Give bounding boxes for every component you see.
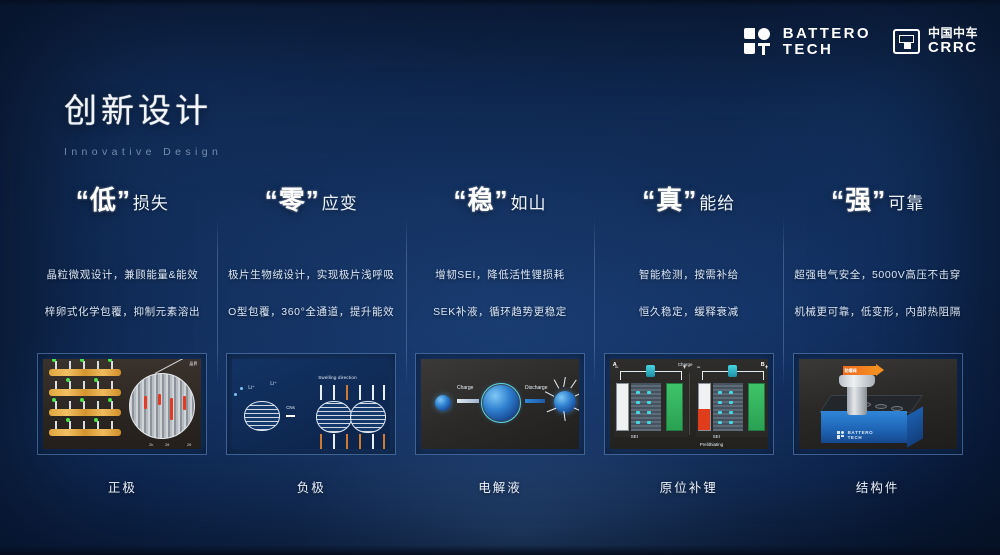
bullet-line: O型包覆，360°全通道，提升能效 [228, 304, 394, 319]
column-heading: “强” 可靠 [831, 180, 924, 232]
graphite-particle [244, 401, 280, 431]
column-heading: “真” 能给 [642, 180, 735, 232]
column-heading: “低” 损失 [76, 180, 169, 232]
battero-mark-icon-small [837, 431, 845, 439]
figure-caption: 电解液 [478, 477, 522, 496]
axis-tick: 2θ [165, 442, 169, 447]
figure-panel-graphite-swelling: Li⁺ Li⁺ CNs Swelling direction [226, 353, 396, 455]
magnified-region [129, 373, 195, 439]
bullet-line: 极片生物绒设计，实现极片浅呼吸 [228, 267, 395, 282]
bullet-line: 梓卵式化学包覆，抑制元素溶出 [45, 304, 200, 319]
species-label: CNs [286, 405, 295, 410]
column-bullets: 晶粒微观设计，兼顾能量&能效 梓卵式化学包覆，抑制元素溶出 [45, 267, 200, 319]
figure-panel-module-structure: 防爆阀 BATTERO TECH [793, 353, 963, 455]
heading-keyword: “稳” [453, 180, 508, 217]
column-bullets: 超强电气安全，5000V高压不击穿 机械更可靠，低变形，内部热阻隔 [794, 267, 961, 319]
heading-keyword: “零” [265, 180, 320, 217]
sei-label: SEI [631, 434, 638, 439]
page-title: 创新设计 Innovative Design [64, 84, 222, 158]
vent-valve-cap [839, 375, 875, 387]
figure-caption: 正极 [108, 477, 137, 496]
column-bullets: 增韧SEI，降低活性锂损耗 SEK补液，循环趋势更稳定 [433, 267, 567, 319]
negative-terminal: − [697, 365, 701, 371]
title-english: Innovative Design [64, 146, 222, 158]
particle-spiked [554, 391, 576, 413]
module-brand-line2: TECH [848, 435, 874, 440]
heading-suffix: 应变 [322, 189, 358, 214]
feature-column-cathode: “低” 损失 晶粒微观设计，兼顾能量&能效 梓卵式化学包覆，抑制元素溶出 [28, 180, 217, 496]
battero-line2: TECH [783, 42, 871, 58]
vent-arrow-label: 防爆阀 [845, 368, 857, 374]
bullet-line: 机械更可靠，低变形，内部热阻隔 [794, 304, 961, 319]
figure-panel-crystal-lattice: 晶界 2h 2θ 2θ [37, 353, 207, 455]
title-chinese: 创新设计 [64, 84, 222, 132]
crrc-english-name: CRRC [928, 40, 978, 56]
sei-label: SEI [713, 434, 720, 439]
charge-label: Charge [457, 385, 473, 391]
crrc-mark-icon [893, 29, 920, 54]
battero-line1: BATTERO [783, 26, 871, 42]
heading-suffix: 如山 [511, 189, 547, 214]
legend-bar [286, 415, 295, 417]
ion-label: Li⁺ [248, 385, 255, 391]
column-heading: “零” 应变 [265, 180, 358, 232]
bullet-line: 增韧SEI，降低活性锂损耗 [435, 267, 565, 282]
column-bullets: 智能检测，按需补给 恒久稳定，缓释衰减 [639, 267, 739, 319]
figure-caption: 结构件 [856, 477, 900, 496]
figure-caption: 原位补锂 [660, 477, 718, 496]
battero-mark-icon [744, 27, 774, 57]
negative-terminal: − [615, 365, 619, 371]
prelithiating-label: Prelithiating [700, 442, 724, 447]
axis-tick: 2h [149, 442, 153, 447]
particle-small [435, 395, 451, 411]
swelling-direction-label: Swelling direction [318, 375, 357, 380]
graphite-particle [316, 401, 352, 433]
particle-halo [481, 383, 521, 423]
logo-bar: BATTERO TECH 中国中车 CRRC [744, 26, 978, 58]
bullet-line: 恒久稳定，缓释衰减 [639, 304, 739, 319]
feature-column-anode: “零” 应变 极片生物绒设计，实现极片浅呼吸 O型包覆，360°全通道，提升能效… [217, 180, 406, 496]
feature-column-electrolyte: “稳” 如山 增韧SEI，降低活性锂损耗 SEK补液，循环趋势更稳定 Charg… [406, 180, 595, 496]
figure-caption: 负极 [297, 477, 326, 496]
bullet-line: SEK补液，循环趋势更稳定 [433, 304, 567, 319]
graphite-particle [350, 401, 386, 433]
heading-keyword: “强” [831, 180, 886, 217]
ion-label-2: Li⁺ [270, 381, 277, 387]
battero-wordmark: BATTERO TECH [783, 26, 871, 58]
heading-keyword: “真” [642, 180, 697, 217]
heading-suffix: 可靠 [888, 189, 924, 214]
battero-logo: BATTERO TECH [744, 26, 871, 58]
module-brand-logo: BATTERO TECH [837, 430, 874, 440]
heading-suffix: 能给 [699, 189, 735, 214]
callout-pointer [155, 359, 185, 374]
feature-column-prelithiation: “真” 能给 智能检测，按需补给 恒久稳定，缓释衰减 A B Charge [594, 180, 783, 496]
heading-keyword: “低” [76, 180, 131, 217]
feature-column-structure: “强” 可靠 超强电气安全，5000V高压不击穿 机械更可靠，低变形，内部热阻隔 [783, 180, 972, 496]
crrc-wordmark: 中国中车 CRRC [928, 27, 978, 56]
figure-panel-prelithiation-cells: A B Charge SEI [604, 353, 774, 455]
bullet-line: 超强电气安全，5000V高压不击穿 [794, 267, 961, 282]
discharge-label: Discharge [525, 385, 548, 391]
slide-root: BATTERO TECH 中国中车 CRRC 创新设计 Innovative D… [0, 0, 1000, 555]
column-heading: “稳” 如山 [453, 180, 546, 232]
feature-columns: “低” 损失 晶粒微观设计，兼顾能量&能效 梓卵式化学包覆，抑制元素溶出 [28, 180, 972, 496]
axis-tick: 2θ [187, 442, 191, 447]
bullet-line: 晶粒微观设计，兼顾能量&能效 [46, 267, 198, 282]
bottom-edge-shade [0, 545, 1000, 555]
positive-terminal: + [765, 365, 768, 371]
positive-terminal: + [683, 365, 687, 371]
column-bullets: 极片生物绒设计，实现极片浅呼吸 O型包覆，360°全通道，提升能效 [228, 267, 395, 319]
top-edge-shade [0, 0, 1000, 6]
heading-suffix: 损失 [133, 189, 169, 214]
callout-label: 晶界 [189, 361, 197, 367]
module-brand-text: BATTERO TECH [848, 430, 874, 440]
crrc-logo: 中国中车 CRRC [893, 27, 978, 56]
lattice-icon [49, 365, 121, 449]
bullet-line: 智能检测，按需补给 [639, 267, 739, 282]
figure-panel-charge-discharge: Charge Discharge [415, 353, 585, 455]
